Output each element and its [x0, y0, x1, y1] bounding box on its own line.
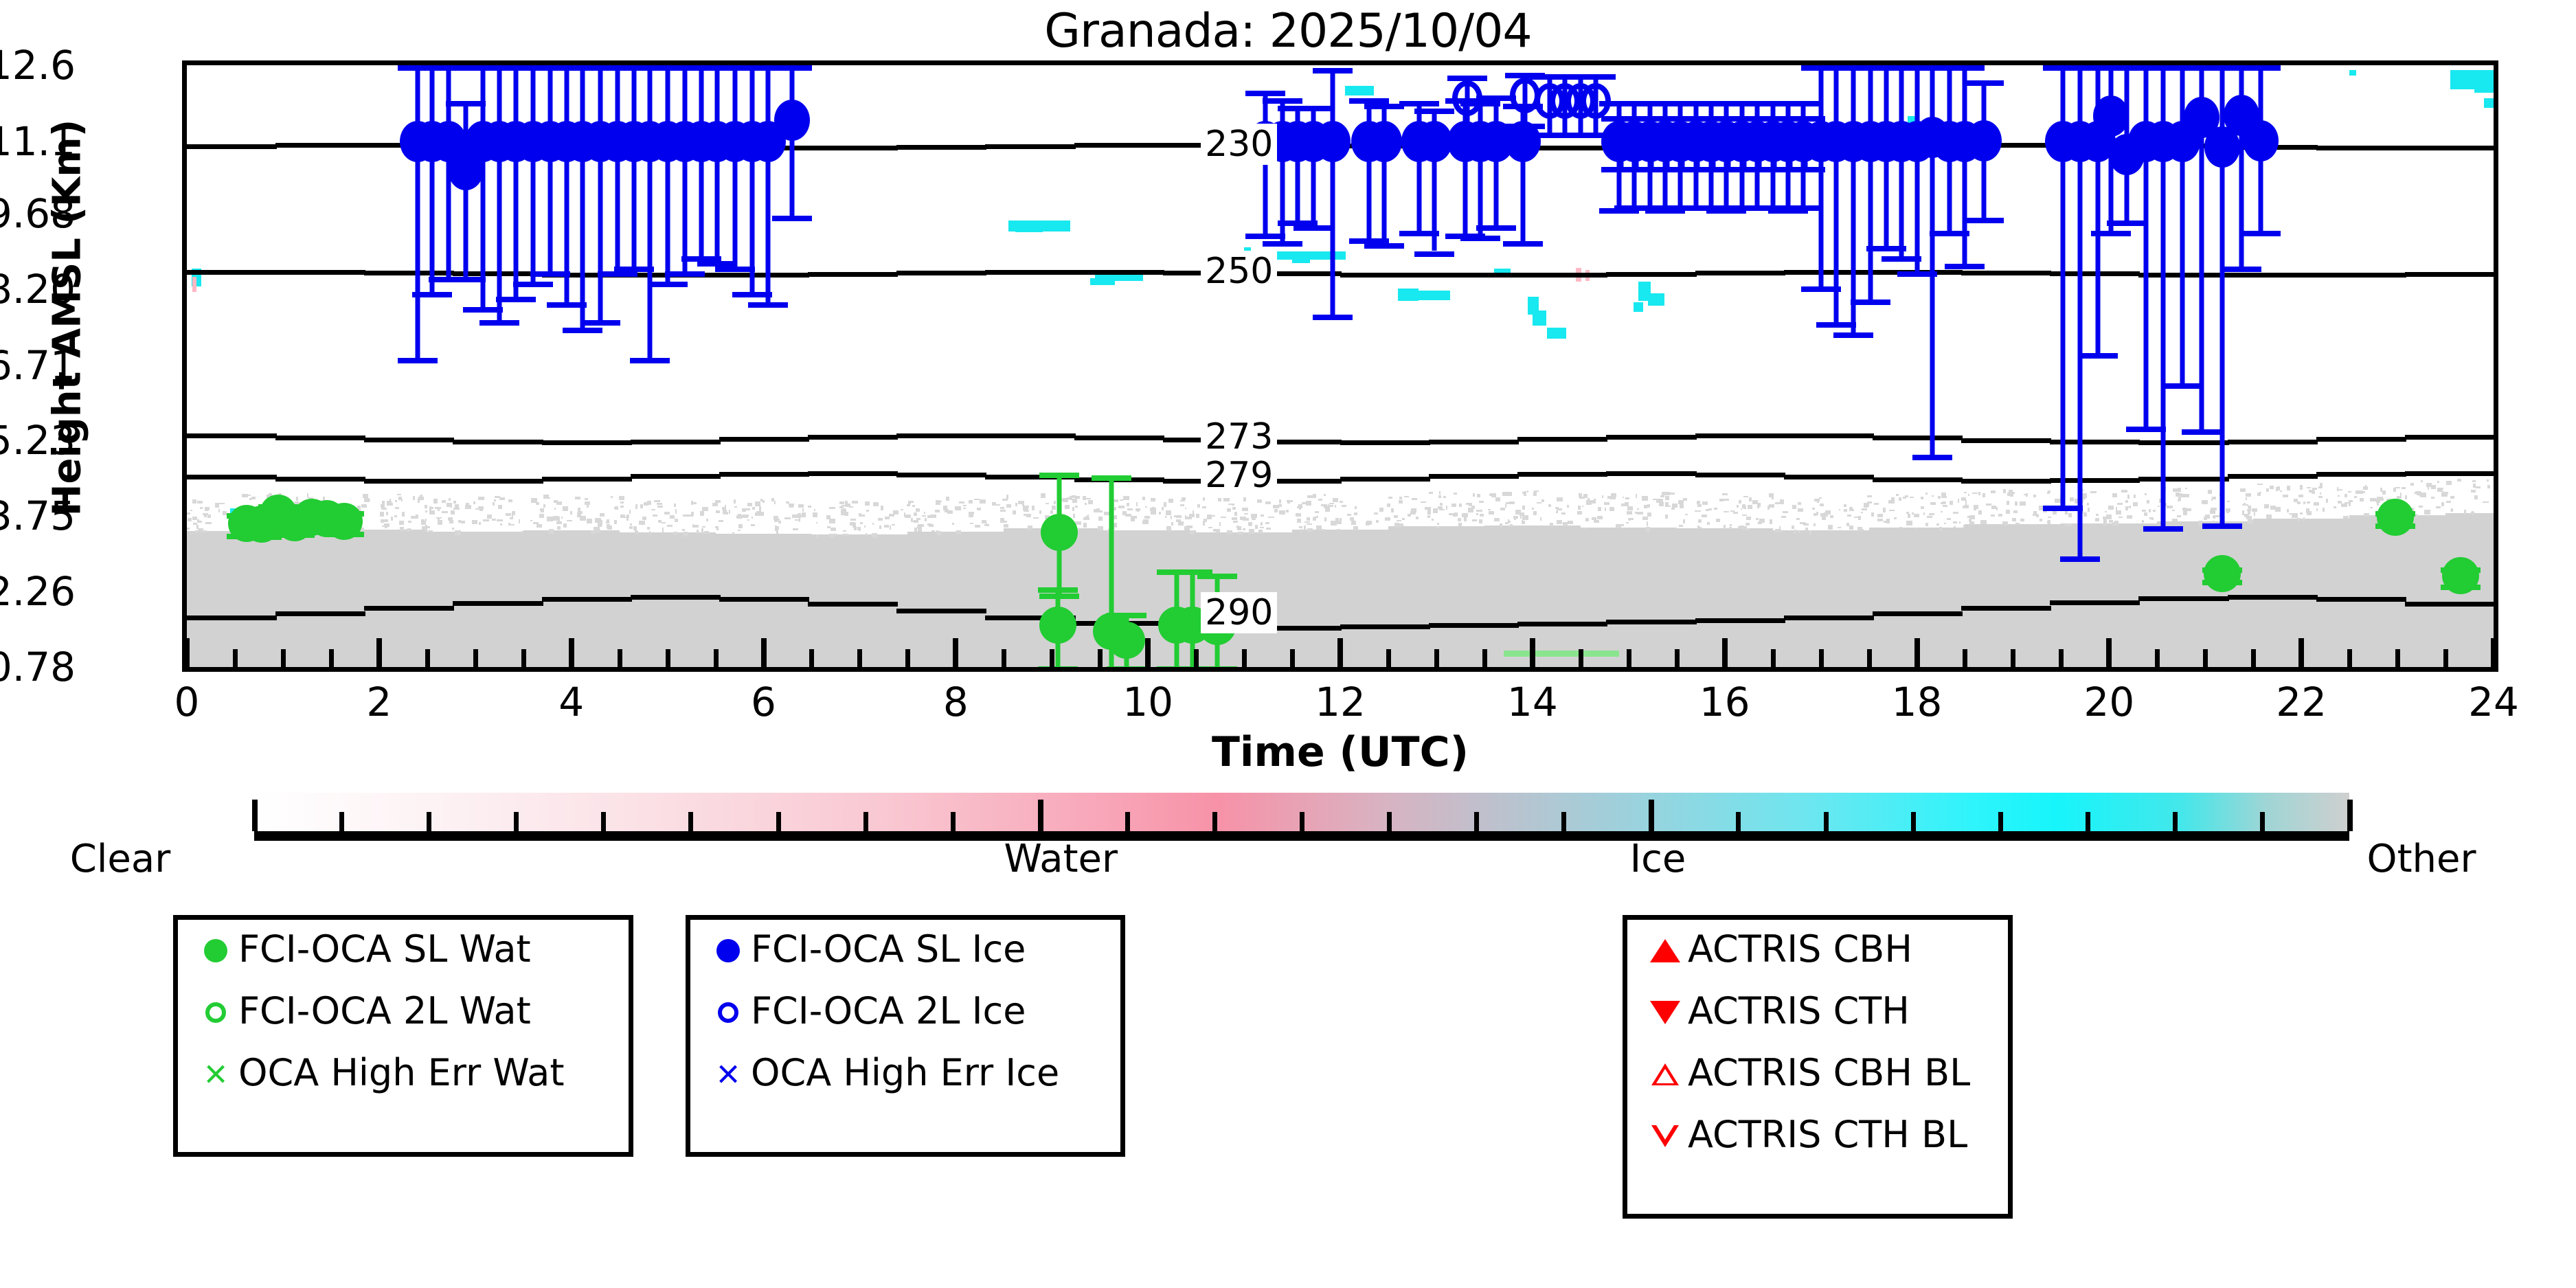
error-bar — [1914, 65, 1919, 271]
error-bar — [580, 65, 585, 328]
colorbar-tick — [427, 812, 431, 831]
y-tick-label: 8.20 — [0, 266, 76, 313]
colorbar-tick — [339, 812, 344, 831]
y-tick-label: 3.75 — [0, 493, 76, 539]
error-bar-cap — [2107, 221, 2147, 226]
isotherm-label-273: 273 — [1201, 416, 1277, 457]
data-point[interactable] — [1039, 607, 1076, 644]
error-bar-cap — [748, 302, 788, 308]
isotherm-label-250: 250 — [1201, 251, 1277, 292]
error-bar — [615, 65, 620, 271]
error-bar-cap — [648, 282, 688, 287]
x-tick-label: 14 — [1507, 679, 1558, 725]
x-tick-minor — [233, 649, 238, 667]
x-tick-minor — [2395, 649, 2400, 667]
colorbar-tick — [2086, 812, 2090, 831]
error-bar-cap — [1945, 264, 1985, 269]
error-bar — [415, 65, 420, 358]
colorbar-label-ice: Ice — [1630, 837, 1686, 881]
legend-item-label: FCI-OCA SL Wat — [238, 931, 531, 971]
error-bar-cap — [429, 65, 468, 71]
error-bar-cap — [2126, 427, 2166, 432]
colorbar-tick — [1038, 800, 1043, 831]
colorbar-tick — [1911, 812, 1916, 831]
error-bar — [648, 65, 653, 358]
x-tick-label: 24 — [2468, 679, 2519, 725]
error-bar-cap — [1833, 332, 1873, 338]
x-tick-label: 8 — [943, 679, 969, 725]
data-point[interactable] — [1366, 121, 1402, 162]
x-axis-title: Time (UTC) — [182, 728, 2498, 776]
filled-circle-icon — [705, 939, 751, 962]
y-tick-label: 2.26 — [0, 568, 76, 615]
legend-item-label: OCA High Err Wat — [238, 1054, 565, 1094]
legend-item-label: ACTRIS CTH — [1688, 993, 1910, 1032]
colorbar-tick — [1125, 812, 1130, 831]
error-bar-cap — [1460, 236, 1500, 241]
error-bar-cap — [1505, 124, 1545, 129]
legend-item-label: OCA High Err Ice — [751, 1054, 1059, 1094]
error-bar-cap — [1783, 101, 1823, 106]
colorbar-tick — [601, 812, 606, 831]
x-tick-minor — [1194, 649, 1199, 667]
x-tick — [761, 638, 767, 667]
error-bar — [749, 65, 754, 292]
error-bar-cap — [1414, 251, 1454, 257]
chart-title: Granada: 2025/10/04 — [0, 4, 2576, 58]
error-bar — [598, 65, 602, 320]
x-tick-minor — [1771, 649, 1776, 667]
x-tick-minor — [1434, 649, 1439, 667]
error-bar-cap — [2043, 506, 2083, 511]
error-bar-cap — [1816, 322, 1856, 328]
error-bar-cap — [2162, 383, 2202, 389]
cross-icon: × — [705, 1054, 751, 1094]
x-tick-minor — [425, 649, 430, 667]
colorbar-tick — [1387, 812, 1392, 831]
x-tick-minor — [1290, 649, 1295, 667]
y-tick-label: 5.23 — [0, 417, 76, 464]
error-bar-cap — [1293, 106, 1333, 111]
error-bar — [682, 65, 687, 271]
error-bar-cap — [1092, 667, 1131, 672]
x-tick-label: 0 — [174, 679, 200, 725]
colorbar-tick — [2347, 800, 2353, 831]
error-bar-cap — [1313, 68, 1353, 74]
filled-circle-icon — [193, 939, 238, 962]
x-tick-minor — [1386, 649, 1391, 667]
open-circle-icon — [705, 1002, 751, 1023]
y-tick-label: 11.1 — [0, 118, 76, 165]
error-bar — [513, 65, 518, 297]
error-bar-cap — [1447, 131, 1487, 137]
error-bar-cap — [2060, 556, 2100, 562]
error-bar-cap — [446, 277, 486, 282]
data-point[interactable] — [1108, 622, 1145, 659]
error-bar-cap — [1964, 218, 2004, 223]
triangle-down-open-icon — [1642, 1125, 1688, 1147]
legend-item[interactable]: FCI-OCA 2L Ice — [690, 982, 1120, 1043]
legend-water[interactable]: FCI-OCA SL WatFCI-OCA 2L Wat×OCA High Er… — [173, 915, 633, 1157]
isotherm-label-230: 230 — [1201, 124, 1277, 165]
error-bar-cap — [772, 216, 812, 221]
legend-item[interactable]: ×OCA High Err Wat — [178, 1043, 629, 1105]
x-tick — [569, 638, 574, 667]
triangle-up-open-icon — [1642, 1063, 1688, 1085]
error-bar-cap — [1039, 473, 1079, 478]
data-point[interactable] — [2442, 557, 2479, 594]
y-tick-label: 0.78 — [0, 644, 76, 690]
data-point[interactable] — [1581, 83, 1611, 119]
error-bar — [732, 65, 737, 267]
x-tick — [376, 638, 382, 667]
x-tick-minor — [2059, 649, 2064, 667]
error-bar-cap — [1783, 205, 1823, 211]
x-tick-label: 16 — [1699, 679, 1750, 725]
colorbar-tick — [1824, 812, 1829, 831]
legend-item[interactable]: FCI-OCA SL Wat — [178, 920, 629, 982]
legend-actris[interactable]: ACTRIS CBHACTRIS CTHACTRIS CBH BLACTRIS … — [1623, 915, 2013, 1219]
x-tick-minor — [809, 649, 814, 667]
error-bar — [1868, 65, 1873, 300]
x-tick-minor — [1242, 649, 1247, 667]
error-bar — [1963, 65, 1967, 264]
error-bar — [547, 65, 552, 271]
colorbar-label-clear: Clear — [70, 837, 170, 881]
x-tick-minor — [618, 649, 622, 667]
legend-item-label: ACTRIS CBH BL — [1688, 1054, 1970, 1094]
error-bar — [766, 65, 771, 302]
plot-area[interactable] — [182, 60, 2498, 672]
error-bar-cap — [1399, 101, 1439, 106]
isotherm-label-279: 279 — [1201, 455, 1277, 496]
error-bar-cap — [2182, 429, 2222, 435]
x-tick-label: 22 — [2276, 679, 2327, 725]
x-tick-label: 10 — [1122, 679, 1173, 725]
error-bar — [1280, 98, 1285, 241]
colorbar-tick — [863, 812, 868, 831]
error-bar-cap — [598, 271, 637, 277]
legend-item[interactable]: ACTRIS CBH — [1627, 920, 2008, 982]
colorbar-tick — [1474, 812, 1479, 831]
colorbar-tick — [1300, 812, 1304, 831]
error-bar-cap — [630, 358, 670, 363]
legend-item-label: ACTRIS CBH — [1688, 931, 1912, 971]
x-tick-label: 12 — [1315, 679, 1366, 725]
x-tick — [1722, 638, 1728, 667]
colorbar-label-other: Other — [2366, 837, 2476, 881]
error-bar-cap — [1503, 241, 1543, 247]
x-tick-minor — [666, 649, 670, 667]
error-bar-cap — [1964, 80, 2004, 86]
figure-root: Granada: 2025/10/04 Height AMSL (Km) 12.… — [0, 0, 2576, 1288]
error-bar-cap — [1107, 666, 1146, 672]
x-tick-minor — [1579, 649, 1583, 667]
error-bar-cap — [2222, 267, 2261, 272]
data-point[interactable] — [1452, 80, 1482, 116]
error-bar-cap — [2202, 523, 2242, 529]
data-point[interactable] — [774, 100, 810, 141]
x-tick — [1530, 638, 1535, 667]
legend-item-label: FCI-OCA 2L Wat — [238, 993, 531, 1032]
error-bar — [530, 65, 535, 282]
x-tick-minor — [2203, 649, 2208, 667]
error-bar-cap — [479, 320, 519, 326]
x-tick-minor — [1675, 649, 1680, 667]
error-bar-cap — [2078, 353, 2118, 359]
x-tick-minor — [521, 649, 526, 667]
x-tick-minor — [1482, 649, 1487, 667]
data-point[interactable] — [326, 503, 363, 540]
triangle-down-icon — [1642, 1001, 1688, 1024]
legend-item[interactable]: ACTRIS CTH — [1627, 982, 2008, 1043]
error-bar-cap — [580, 320, 620, 326]
x-tick-minor — [905, 649, 910, 667]
error-bar-cap — [772, 65, 812, 71]
y-tick-label: 12.6 — [0, 42, 76, 89]
x-tick-minor — [1819, 649, 1824, 667]
x-tick — [953, 638, 958, 667]
error-bar-cap — [1414, 109, 1454, 114]
colorbar-tick — [514, 812, 519, 831]
x-tick-minor — [857, 649, 862, 667]
error-bar — [2143, 65, 2148, 427]
data-point[interactable] — [1790, 124, 1820, 159]
legend-item[interactable]: ACTRIS CTH BL — [1627, 1105, 2008, 1167]
colorbar-tick — [1998, 812, 2003, 831]
legend-item[interactable]: FCI-OCA SL Ice — [690, 920, 1120, 982]
colorbar-baseline — [254, 831, 2349, 841]
colorbar[interactable] — [254, 793, 2349, 831]
error-bar-cap — [1293, 225, 1333, 231]
error-bar — [429, 65, 434, 292]
x-tick-minor — [2251, 649, 2256, 667]
x-tick-minor — [1963, 649, 1967, 667]
error-bar — [1366, 98, 1371, 238]
error-bar — [564, 65, 569, 302]
x-tick-minor — [2155, 649, 2160, 667]
data-point[interactable] — [2204, 555, 2241, 592]
colorbar-tick — [2260, 812, 2265, 831]
legend-item-label: ACTRIS CTH BL — [1688, 1116, 1967, 1156]
x-tick — [1914, 638, 1920, 667]
error-bar-cap — [2241, 65, 2281, 71]
error-bar-cap — [1785, 116, 1825, 122]
colorbar-tick — [1212, 812, 1217, 831]
colorbar-tick — [1561, 812, 1566, 831]
legend-item[interactable]: FCI-OCA 2L Wat — [178, 982, 629, 1043]
x-tick — [2298, 638, 2304, 667]
open-circle-icon — [193, 1002, 238, 1023]
x-tick-label: 2 — [366, 679, 392, 725]
x-tick-label: 20 — [2083, 679, 2134, 725]
x-tick-minor — [1050, 649, 1054, 667]
error-bar-cap — [1851, 300, 1890, 305]
error-bar-cap — [1945, 65, 1985, 71]
error-bar-cap — [513, 282, 553, 287]
legend-item[interactable]: ×OCA High Err Ice — [690, 1043, 1120, 1105]
error-bar-cap — [1364, 104, 1404, 109]
error-bar-cap — [1263, 241, 1302, 247]
legend-ice[interactable]: FCI-OCA SL IceFCI-OCA 2L Ice×OCA High Er… — [686, 915, 1125, 1157]
x-tick-minor — [2443, 649, 2448, 667]
error-bar-cap — [398, 358, 438, 363]
colorbar-tick — [252, 800, 258, 831]
error-bar-cap — [446, 101, 486, 106]
error-bar — [1833, 65, 1838, 322]
error-bar-cap — [1313, 315, 1353, 320]
x-tick-minor — [1098, 649, 1103, 667]
legend-item[interactable]: ACTRIS CBH BL — [1627, 1043, 2008, 1105]
x-tick-label: 18 — [1892, 679, 1943, 725]
x-tick-minor — [2011, 649, 2015, 667]
error-bar-cap — [1197, 666, 1237, 672]
x-tick — [2491, 638, 2496, 667]
cross-icon: × — [193, 1054, 238, 1094]
error-bar-cap — [1263, 98, 1302, 104]
error-bar-cap — [2091, 231, 2131, 236]
error-bar-cap — [1092, 475, 1131, 481]
error-bar-cap — [1785, 167, 1825, 172]
x-tick-minor — [1627, 649, 1631, 667]
error-bar — [1818, 65, 1823, 286]
isotherm-label-290: 290 — [1201, 592, 1277, 633]
legend-item-label: FCI-OCA SL Ice — [751, 931, 1026, 971]
error-bar-cap — [1364, 243, 1404, 249]
error-bar-cap — [1245, 91, 1285, 96]
error-bar-cap — [1476, 225, 1516, 231]
x-tick-minor — [714, 649, 719, 667]
colorbar-tick — [2173, 812, 2178, 831]
triangle-up-icon — [1642, 939, 1688, 962]
x-tick — [1337, 638, 1343, 667]
error-bar-cap — [1912, 455, 1952, 460]
error-bar-cap — [715, 267, 755, 272]
error-bar-cap — [1245, 234, 1285, 239]
error-bar-cap — [1038, 666, 1078, 672]
data-point[interactable] — [2243, 120, 2279, 161]
y-tick-label: 6.71 — [0, 342, 76, 389]
colorbar-label-water: Water — [1004, 837, 1118, 881]
x-tick — [1145, 638, 1151, 667]
error-bar — [1330, 68, 1335, 315]
error-bar — [715, 65, 720, 261]
x-tick-label: 4 — [558, 679, 584, 725]
error-bar-cap — [1576, 74, 1616, 80]
error-bar-cap — [665, 271, 705, 277]
x-tick-minor — [473, 649, 478, 667]
colorbar-tick — [951, 812, 956, 831]
legend-item-label: FCI-OCA 2L Ice — [751, 993, 1026, 1032]
x-tick-minor — [1002, 649, 1006, 667]
x-tick — [184, 638, 190, 667]
x-tick-minor — [2347, 649, 2352, 667]
data-point[interactable] — [1966, 120, 2002, 161]
error-bar-cap — [2143, 526, 2183, 532]
colorbar-tick — [1736, 812, 1741, 831]
x-tick-label: 6 — [751, 679, 776, 725]
colorbar-tick — [688, 812, 693, 831]
error-bar — [665, 65, 670, 282]
data-point[interactable] — [1041, 514, 1078, 551]
colorbar-tick — [776, 812, 781, 831]
colorbar-tick — [1649, 800, 1654, 831]
error-bar-cap — [563, 328, 602, 333]
error-bar-cap — [2241, 231, 2281, 236]
data-point[interactable] — [1315, 121, 1351, 162]
error-bar-cap — [1197, 574, 1237, 579]
error-bar — [480, 65, 485, 307]
x-tick-minor — [1867, 649, 1872, 667]
error-bar-cap — [496, 297, 536, 302]
error-bar — [631, 65, 636, 267]
x-tick-minor — [329, 649, 334, 667]
error-bar-cap — [1038, 587, 1078, 593]
error-bar-cap — [412, 292, 452, 297]
error-bar-cap — [1107, 613, 1146, 618]
error-bar — [1851, 65, 1856, 332]
x-tick — [2106, 638, 2112, 667]
y-tick-label: 9.68 — [0, 190, 76, 237]
data-point[interactable] — [2377, 499, 2414, 536]
error-bar — [497, 65, 501, 320]
x-tick-minor — [281, 649, 286, 667]
